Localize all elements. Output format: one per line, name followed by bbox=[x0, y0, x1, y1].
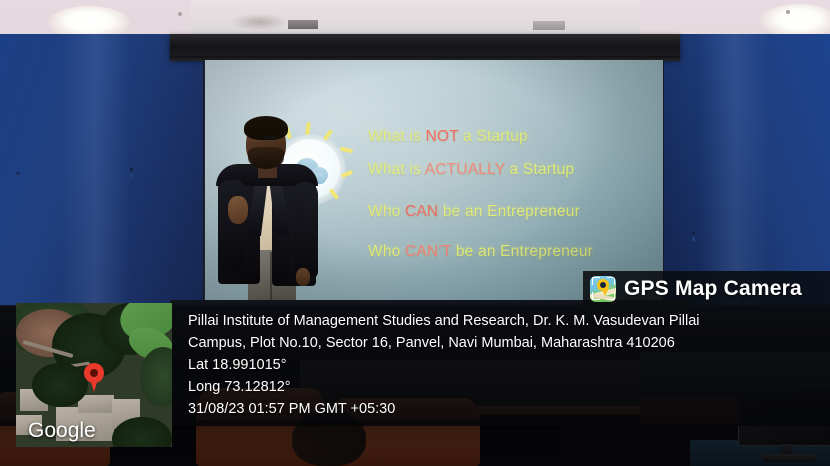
address-line-2: Campus, Plot No.10, Sector 16, Panvel, N… bbox=[188, 332, 808, 354]
gps-map-camera-title: GPS Map Camera bbox=[624, 277, 802, 301]
ceiling-smudge bbox=[232, 14, 286, 30]
presenter-beard bbox=[248, 147, 284, 169]
ceiling-fixture-left bbox=[288, 20, 318, 29]
gps-map-camera-badge: GPS Map Camera bbox=[583, 271, 830, 306]
ceiling-dot-a bbox=[178, 12, 182, 16]
address-line-1: Pillai Institute of Management Studies a… bbox=[188, 310, 808, 332]
wall-fixing-left bbox=[130, 168, 133, 177]
ceiling-vent-right bbox=[533, 21, 565, 30]
latitude-value: Lat 18.991015° bbox=[188, 354, 808, 376]
gps-info-text-block: Pillai Institute of Management Studies a… bbox=[188, 310, 808, 420]
wall-fixing-right bbox=[692, 232, 695, 241]
presenter-arm-right bbox=[294, 182, 318, 278]
presenter-headset-mic bbox=[264, 136, 276, 139]
wall-speck-left bbox=[16, 172, 20, 176]
monitor-stand-base bbox=[762, 454, 816, 462]
gps-map-camera-photo: What is NOT a Startup What is ACTUALLY a… bbox=[0, 0, 830, 466]
presenter-hand-lower bbox=[296, 268, 310, 286]
map-pin-center bbox=[90, 369, 98, 377]
presenter-hand-raised bbox=[228, 196, 248, 224]
map-thumbnail[interactable]: Google bbox=[16, 303, 172, 447]
google-watermark: Google bbox=[28, 419, 96, 443]
gps-map-pin-viewfinder-icon bbox=[590, 276, 616, 302]
presenter-arm-left bbox=[218, 180, 244, 270]
ceiling-light-right bbox=[760, 4, 830, 38]
longitude-value: Long 73.12812° bbox=[188, 376, 808, 398]
timestamp-value: 31/08/23 01:57 PM GMT +05:30 bbox=[188, 398, 808, 420]
ceiling-dot-b bbox=[786, 10, 790, 14]
